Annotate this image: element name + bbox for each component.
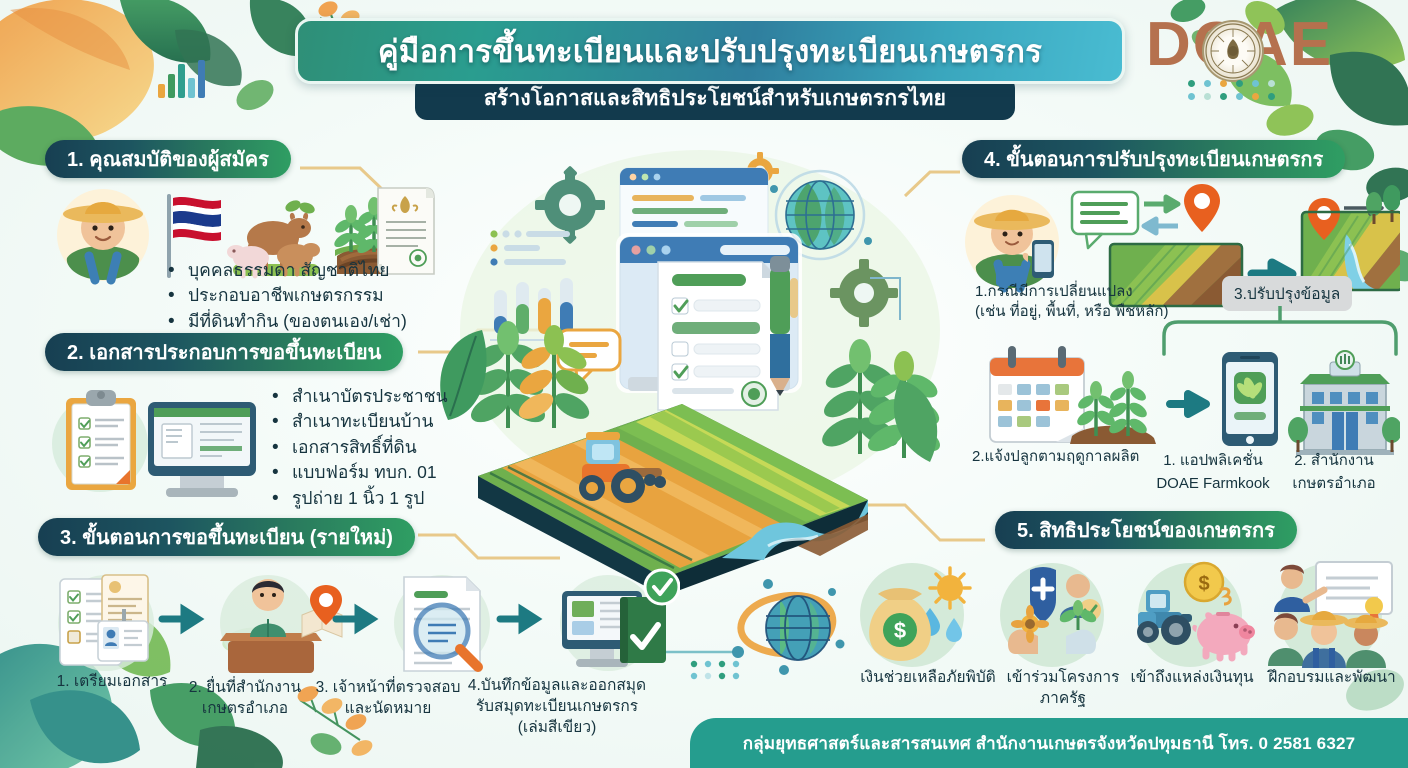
list-item: รูปถ่าย 1 นิ้ว 1 รูป bbox=[272, 486, 492, 511]
section-5-benefit-1-label: เงินช่วยเหลือภัยพิบัติ bbox=[848, 668, 1008, 689]
section-2-heading-text: 2. เอกสารประกอบการขอขึ้นทะเบียน bbox=[67, 336, 381, 368]
footer-text: กลุ่มยุทธศาสตร์และสารสนเทศ สำนักงานเกษตร… bbox=[743, 730, 1356, 757]
section-3-step-3-label: 3. เจ้าหน้าที่ตรวจสอบ และนัดหมาย bbox=[308, 678, 468, 720]
section-3-heading-text: 3. ขั้นตอนการขอขึ้นทะเบียน (รายใหม่) bbox=[60, 521, 393, 553]
magnifier-document-icon bbox=[394, 575, 490, 671]
center-illustration bbox=[440, 150, 944, 596]
section-3-step-2-label: 2. ยื่นที่สำนักงาน เกษตรอำเภอ bbox=[170, 678, 320, 720]
farmer-avatar-icon bbox=[57, 189, 149, 281]
section-1-heading: 1. คุณสมบัติของผู้สมัคร bbox=[45, 140, 291, 178]
flow-arrow-icon bbox=[1170, 394, 1206, 414]
flow-arrow-icon bbox=[162, 610, 198, 628]
infographic-canvas: สร้างโอกาสและสิทธิประโยชน์สำหรับเกษตรกรไ… bbox=[0, 0, 1408, 768]
list-item: มีที่ดินทำกิน (ของตนเอง/เช่า) bbox=[168, 309, 428, 334]
doae-seal-icon bbox=[1202, 20, 1264, 82]
government-office-icon bbox=[1288, 351, 1400, 455]
svg-text:$: $ bbox=[894, 618, 906, 643]
doae-dot-grid bbox=[1188, 80, 1298, 102]
computer-greenbook-icon bbox=[560, 570, 679, 671]
shield-hands-plant-icon bbox=[1000, 563, 1104, 667]
money-bag-sun-rain-icon: $ bbox=[860, 563, 970, 667]
doae-logo: DOAE bbox=[1146, 8, 1396, 100]
bar-chart-icon bbox=[158, 60, 206, 98]
clipboard-checklist-icon bbox=[66, 390, 136, 490]
section-3-step-1-label: 1. เตรียมเอกสาร bbox=[42, 672, 182, 693]
section-4-heading-text: 4. ขั้นตอนการปรับปรุงทะเบียนเกษตรกร bbox=[984, 143, 1323, 175]
calendar-seedling-icon bbox=[990, 346, 1156, 444]
field-river-pin-icon bbox=[1302, 185, 1400, 290]
title-text: คู่มือการขึ้นทะเบียนและปรับปรุงทะเบียนเก… bbox=[378, 26, 1042, 76]
list-item: บุคคลธรรมดา สัญชาติไทย bbox=[168, 258, 428, 283]
section-5-benefit-2-label: เข้าร่วมโครงการ ภาครัฐ bbox=[998, 668, 1128, 710]
section-3-heading: 3. ขั้นตอนการขอขึ้นทะเบียน (รายใหม่) bbox=[38, 518, 415, 556]
officer-counter-icon bbox=[220, 575, 342, 673]
section-4-channel-2-label: 2. สำนักงาน เกษตรอำเภอ bbox=[1278, 450, 1390, 495]
section-1-heading-text: 1. คุณสมบัติของผู้สมัคร bbox=[67, 143, 269, 175]
training-board-icon bbox=[1268, 562, 1392, 668]
globe-icon bbox=[741, 579, 845, 675]
section-5-benefit-4-label: ฝึกอบรมและพัฒนา bbox=[1258, 668, 1406, 689]
list-item: สำเนาบัตรประชาชน bbox=[272, 384, 492, 409]
list-item: เอกสารสิทธิ์ที่ดิน bbox=[272, 435, 492, 460]
smartphone-app-icon bbox=[1222, 352, 1278, 446]
section-4-channel-1-label: 1. แอปพลิเคชั่น DOAE Farmkook bbox=[1150, 450, 1276, 495]
documents-id-icon bbox=[58, 575, 154, 671]
tractor-piggybank-icon: $ bbox=[1137, 563, 1255, 667]
list-item: สำเนาทะเบียนบ้าน bbox=[272, 409, 492, 434]
subtitle-text: สร้างโอกาสและสิทธิประโยชน์สำหรับเกษตรกรไ… bbox=[484, 82, 946, 115]
section-2-bullets: สำเนาบัตรประชาชน สำเนาทะเบียนบ้าน เอกสาร… bbox=[272, 384, 492, 511]
section-2-heading: 2. เอกสารประกอบการขอขึ้นทะเบียน bbox=[45, 333, 403, 371]
section-5-benefit-3-label: เข้าถึงแหล่งเงินทุน bbox=[1122, 668, 1262, 689]
list-item: แบบฟอร์ม ทบก. 01 bbox=[272, 460, 492, 485]
section-5-heading-text: 5. สิทธิประโยชน์ของเกษตรกร bbox=[1017, 514, 1275, 546]
section-1-bullets: บุคคลธรรมดา สัญชาติไทย ประกอบอาชีพเกษตรก… bbox=[168, 258, 428, 334]
section-3-icons bbox=[40, 565, 680, 685]
svg-text:$: $ bbox=[1198, 573, 1209, 595]
section-5-heading: 5. สิทธิประโยชน์ของเกษตรกร bbox=[995, 511, 1297, 549]
list-item: ประกอบอาชีพเกษตรกรรม bbox=[168, 283, 428, 308]
farmer-phone-icon bbox=[965, 195, 1059, 289]
title-pill: คู่มือการขึ้นทะเบียนและปรับปรุงทะเบียนเก… bbox=[295, 18, 1125, 84]
section-2-icons bbox=[42, 382, 282, 502]
section-3-step-4-label: 4.บันทึกข้อมูลและออกสมุด รับสมุดทะเบียนเ… bbox=[452, 676, 662, 739]
desktop-monitor-icon bbox=[148, 402, 256, 497]
footer-bar: กลุ่มยุทธศาสตร์และสารสนเทศ สำนักงานเกษตร… bbox=[690, 718, 1408, 768]
section-5-icons: $ bbox=[850, 560, 1408, 670]
flow-arrow-icon bbox=[500, 610, 536, 628]
header-title-block: สร้างโอกาสและสิทธิประโยชน์สำหรับเกษตรกรไ… bbox=[265, 10, 1145, 125]
section-4-heading: 4. ขั้นตอนการปรับปรุงทะเบียนเกษตรกร bbox=[962, 140, 1345, 178]
